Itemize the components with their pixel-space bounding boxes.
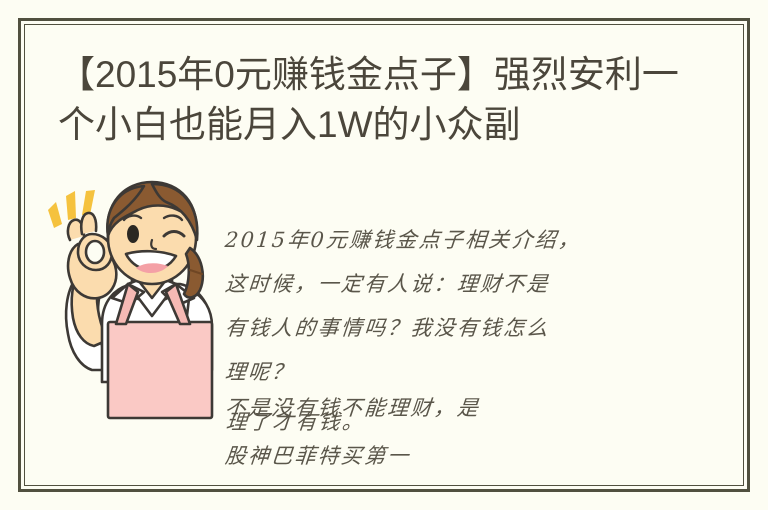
body-line: 理呢？ [224, 360, 296, 384]
body-line-overlapping: 理了才有钱。 [225, 410, 366, 434]
article-body-text: 2015年0元赚钱金点子相关介绍， 这时候，一定有人说：理财不是 有钱人的事情吗… [225, 200, 677, 486]
body-line: 股神巴菲特买第一 [224, 444, 412, 468]
article-image-canvas: 【2015年0元赚钱金点子】强烈安利一个小白也能月入1W的小众副 [0, 0, 768, 510]
winking-woman-ok-gesture-icon [40, 174, 230, 444]
body-line: 2015年0元赚钱金点子相关介绍， [224, 228, 582, 252]
page-title: 【2015年0元赚钱金点子】强烈安利一个小白也能月入1W的小众副 [58, 50, 714, 150]
body-line: 这时候，一定有人说：理财不是 [224, 272, 551, 296]
content-area: 【2015年0元赚钱金点子】强烈安利一个小白也能月入1W的小众副 [24, 24, 744, 486]
body-line: 有钱人的事情吗？我没有钱怎么 [224, 316, 551, 340]
